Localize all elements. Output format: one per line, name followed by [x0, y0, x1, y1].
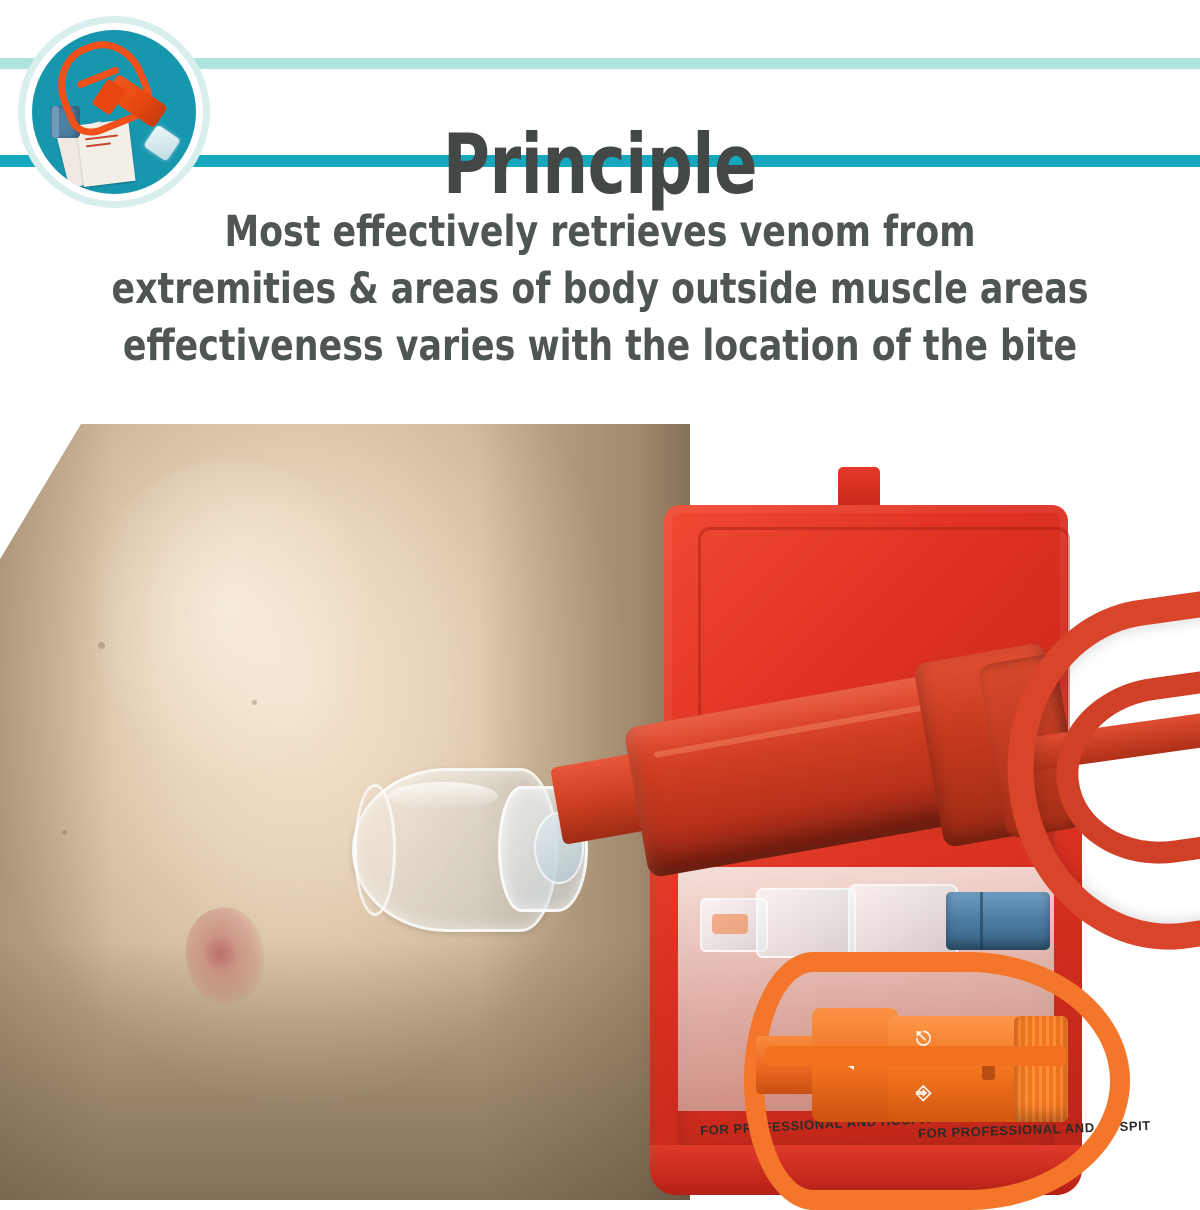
- release-glyph-icon: ⎆: [916, 1084, 931, 1103]
- orange-extractor-tool: ⎋ ⎆: [756, 980, 1100, 1170]
- skin-mark: [62, 830, 67, 835]
- red-vacuum-pump: [556, 590, 1200, 920]
- header-banner: Principle Most effectively retrieves ven…: [0, 0, 1200, 400]
- product-badge: [18, 16, 210, 208]
- subtitle-line-1: Most effectively retrieves venom from: [60, 204, 1140, 261]
- suction-cup-rim: [354, 784, 396, 916]
- skin-mark: [252, 700, 257, 705]
- orange-tool-handle-bar: [766, 1046, 1066, 1066]
- badge-extractor-cup: [143, 124, 181, 161]
- orange-tool-body: [888, 1016, 1028, 1122]
- skin-mark: [98, 642, 105, 649]
- skin-shade-bottom: [0, 940, 690, 1200]
- subtitle-line-3: effectiveness varies with the location o…: [60, 318, 1140, 375]
- badge-teal-disc: [32, 30, 196, 194]
- page-title: Principle: [84, 116, 1116, 214]
- orange-tool-knob: [1014, 1016, 1068, 1122]
- suction-cup-gloss: [388, 782, 498, 810]
- skin-highlight: [80, 460, 380, 790]
- subtitle-block: Most effectively retrieves venom from ex…: [60, 204, 1140, 375]
- subtitle-line-2: extremities & areas of body outside musc…: [60, 261, 1140, 318]
